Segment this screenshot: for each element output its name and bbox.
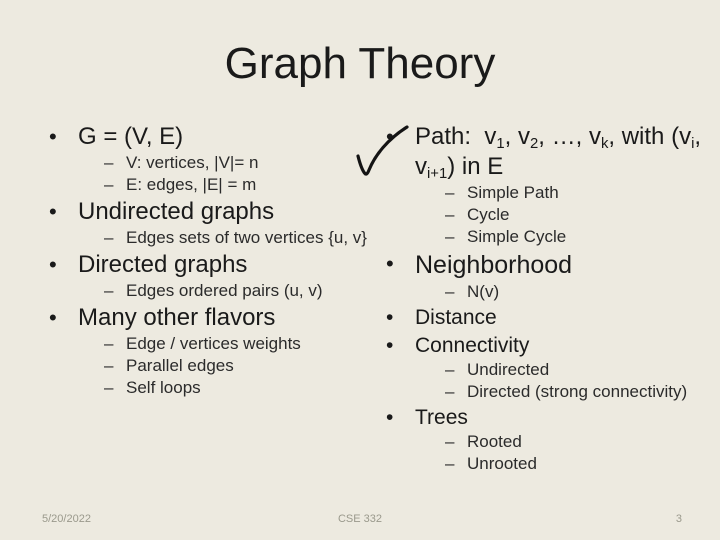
list-item: – Edges ordered pairs (u, v) [78,280,368,302]
sub-bullet-list: – Edges ordered pairs (u, v) [78,280,368,302]
bullet-glyph: • [386,122,394,152]
bullet-glyph: • [49,122,57,152]
list-item: • Directed graphs – Edges ordered pairs … [38,250,368,302]
dash-glyph: – [445,453,454,475]
sub-item-label: E: edges, |E| = m [126,175,256,194]
dash-glyph: – [445,281,454,303]
sub-bullet-list: – Edge / vertices weights – Parallel edg… [78,333,368,399]
sub-item-label: Cycle [467,205,510,224]
list-item-label: Undirected graphs [78,197,368,227]
list-item: – Edges sets of two vertices {u, v} [78,227,368,249]
list-item: – Directed (strong connectivity) [415,381,705,403]
list-item: • Connectivity – Undirected – Directed (… [375,332,705,403]
bullet-glyph: • [386,404,393,431]
list-item: – Unrooted [415,453,705,475]
bullet-list-right: • Path: v1, v2, …, vk, with (vi, vi+1) i… [375,122,705,475]
list-item: • Many other flavors – Edge / vertices w… [38,303,368,399]
list-item: – Cycle [415,204,705,226]
sub-item-label: Edges sets of two vertices {u, v} [126,228,367,247]
list-item: • Trees – Rooted – Unrooted [375,404,705,475]
list-item-label: G = (V, E) [78,122,368,152]
list-item: • Undirected graphs – Edges sets of two … [38,197,368,249]
footer-course: CSE 332 [0,512,720,526]
list-item: • Path: v1, v2, …, vk, with (vi, vi+1) i… [375,122,705,248]
dash-glyph: – [104,333,113,355]
page-title: Graph Theory [0,38,720,90]
list-item: – Simple Cycle [415,226,705,248]
list-item-label: Neighborhood [415,249,705,281]
list-item: – E: edges, |E| = m [78,174,368,196]
dash-glyph: – [104,355,113,377]
dash-glyph: – [445,182,454,204]
slide: Graph Theory • G = (V, E) – V: vertices,… [0,0,720,540]
dash-glyph: – [104,174,113,196]
list-item: • Neighborhood – N(v) [375,249,705,303]
list-item: – V: vertices, |V|= n [78,152,368,174]
list-item-label: Connectivity [415,332,705,359]
list-item-label: Directed graphs [78,250,368,280]
footer-page-number: 3 [676,512,682,526]
list-item-label: Trees [415,404,705,431]
sub-bullet-list: – Simple Path – Cycle – Simple Cycle [415,182,705,248]
list-item: • Distance [375,304,705,331]
dash-glyph: – [104,152,113,174]
sub-bullet-list: – N(v) [415,281,705,303]
sub-item-label: Self loops [126,378,201,397]
sub-item-label: Edges ordered pairs (u, v) [126,281,323,300]
sub-bullet-list: – V: vertices, |V|= n – E: edges, |E| = … [78,152,368,196]
list-item: – Undirected [415,359,705,381]
dash-glyph: – [445,226,454,248]
dash-glyph: – [445,359,454,381]
bullet-list-left: • G = (V, E) – V: vertices, |V|= n – E: … [38,122,368,399]
list-item-label: Many other flavors [78,303,368,333]
bullet-glyph: • [386,332,393,359]
sub-item-label: V: vertices, |V|= n [126,153,258,172]
list-item: – N(v) [415,281,705,303]
sub-item-label: Simple Path [467,183,559,202]
sub-item-label: N(v) [467,282,499,301]
sub-item-label: Undirected [467,360,549,379]
list-item: • G = (V, E) – V: vertices, |V|= n – E: … [38,122,368,196]
sub-bullet-list: – Edges sets of two vertices {u, v} [78,227,368,249]
dash-glyph: – [445,381,454,403]
list-item: – Rooted [415,431,705,453]
content-column-right: • Path: v1, v2, …, vk, with (vi, vi+1) i… [375,122,705,476]
sub-bullet-list: – Undirected – Directed (strong connecti… [415,359,705,403]
list-item: – Parallel edges [78,355,368,377]
content-column-left: • G = (V, E) – V: vertices, |V|= n – E: … [38,122,368,400]
sub-item-label: Directed (strong connectivity) [467,382,687,401]
dash-glyph: – [445,204,454,226]
bullet-glyph: • [49,250,57,280]
bullet-glyph: • [386,249,394,279]
sub-item-label: Edge / vertices weights [126,334,301,353]
list-item: – Edge / vertices weights [78,333,368,355]
list-item: – Simple Path [415,182,705,204]
sub-bullet-list: – Rooted – Unrooted [415,431,705,475]
list-item-label: Distance [415,304,705,331]
dash-glyph: – [445,431,454,453]
sub-item-label: Parallel edges [126,356,234,375]
bullet-glyph: • [49,197,57,227]
dash-glyph: – [104,227,113,249]
bullet-glyph: • [49,303,57,333]
sub-item-label: Rooted [467,432,522,451]
list-item-label: Path: v1, v2, …, vk, with (vi, vi+1) in … [415,122,705,182]
list-item: – Self loops [78,377,368,399]
bullet-glyph: • [386,304,393,331]
sub-item-label: Simple Cycle [467,227,566,246]
sub-item-label: Unrooted [467,454,537,473]
dash-glyph: – [104,280,113,302]
dash-glyph: – [104,377,113,399]
